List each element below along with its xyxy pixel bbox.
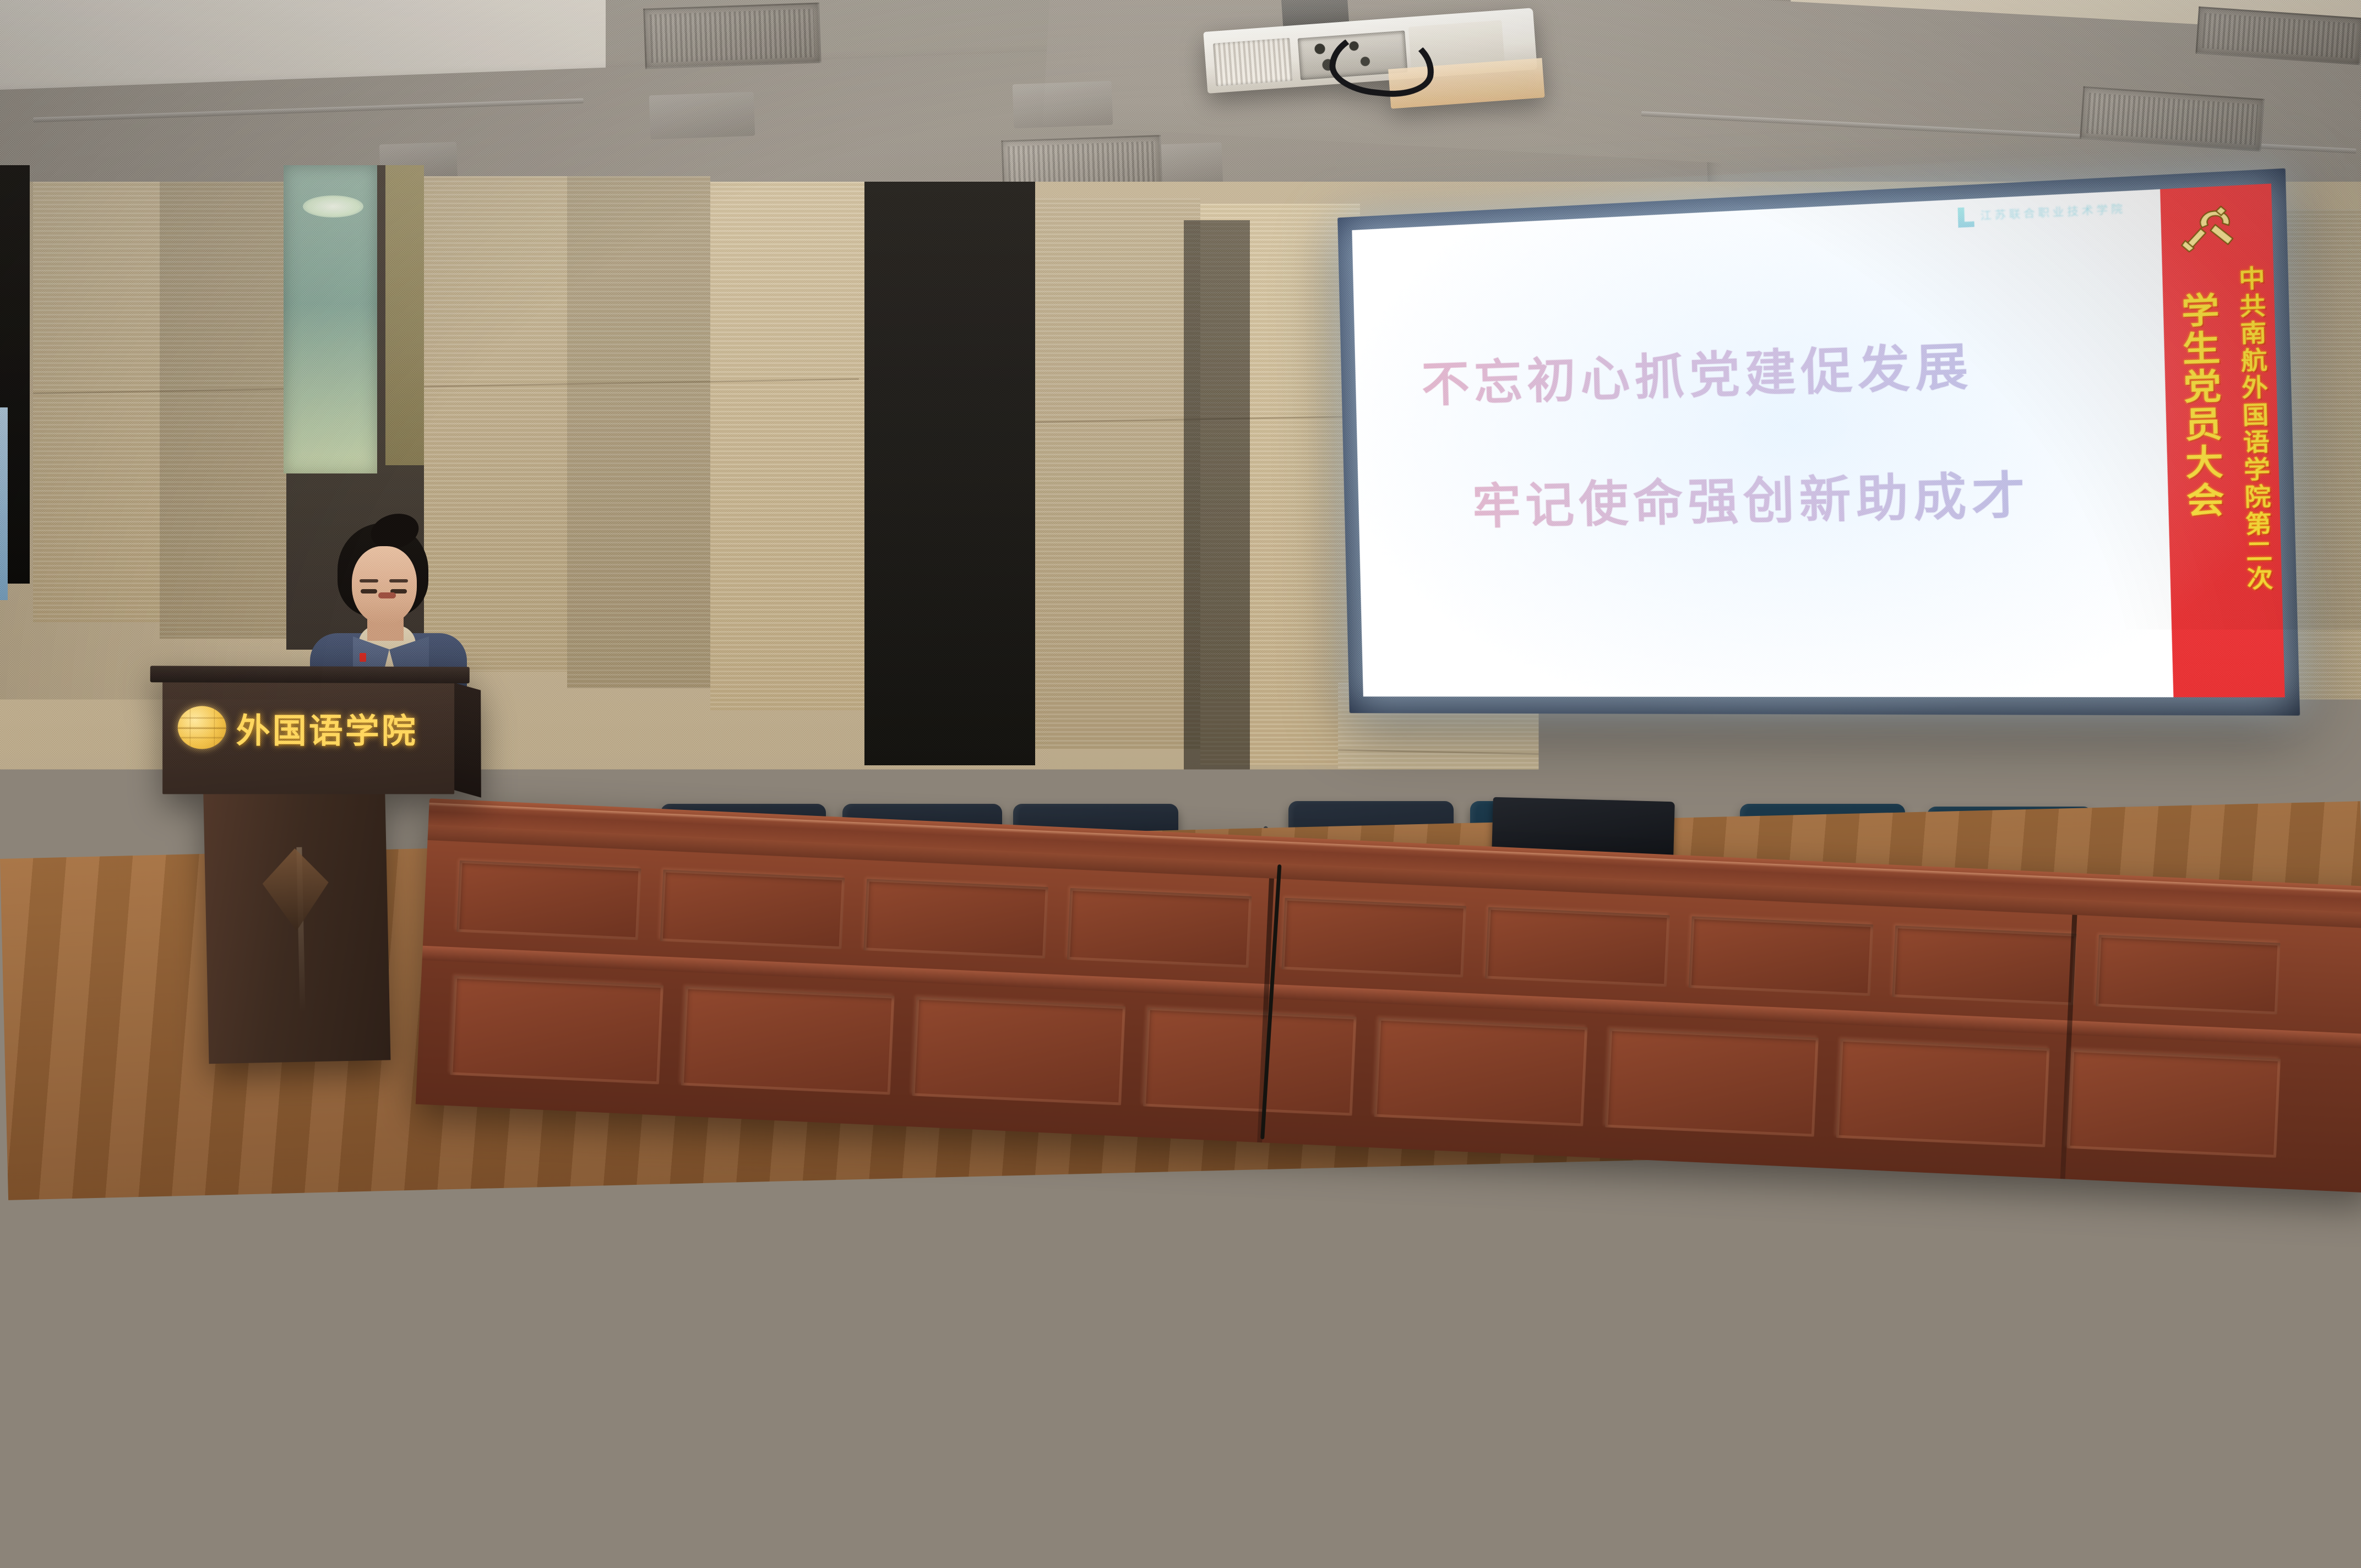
seat-cover-front-center[interactable] [824, 1449, 1115, 1568]
podium-top-edge [150, 666, 470, 683]
seat-label-row2-seat8: 二排8座 [182, 1233, 494, 1321]
screen-surface: 江苏联合职业技术学院 不忘初心抓党建促发展 牢记使命强创新助成才 中共南航外国语… [1352, 183, 2284, 697]
banner-event-line: 学生党员大会 [2169, 291, 2230, 520]
seat-cover-mid-2[interactable] [932, 1218, 1204, 1474]
globe-logo-icon [178, 706, 226, 749]
seat-cover-front-right[interactable] [1629, 1473, 1972, 1568]
projection-screen[interactable]: 江苏联合职业技术学院 不忘初心抓党建促发展 牢记使命强创新助成才 中共南航外国语… [1337, 168, 2300, 716]
auditorium-scene: 江苏联合职业技术学院 不忘初心抓党建促发展 牢记使命强创新助成才 中共南航外国语… [0, 0, 2361, 1568]
slide-headline-2: 牢记使命强创新助成才 [1472, 452, 2130, 538]
paper-cup-3 [1955, 1107, 2009, 1195]
wall-stone-panel-2 [160, 182, 286, 639]
glass-niche-secondary [385, 165, 424, 465]
seat-cover-row2-seat8[interactable]: 二排8座 [173, 1107, 498, 1387]
wall-black-column-center [864, 182, 1035, 765]
ceiling-recess-2 [649, 92, 755, 140]
attendee-head-9 [2081, 986, 2302, 1222]
podium-sign-text: 外国语学院 [236, 703, 418, 753]
document-on-table-1 [206, 973, 279, 1071]
audience-area: 二排8座 排7座 二排6座 [0, 892, 2361, 1568]
wall-monitor-edge [0, 407, 8, 600]
ceiling-recess-3 [1013, 81, 1113, 128]
podium-nameplate: 外国语学院 [178, 703, 418, 753]
speaker-eyebrow-left [360, 579, 378, 582]
niche-ceiling-light [303, 195, 363, 217]
banner-organization-line: 中共南航外国语学院第二次 [2230, 265, 2277, 593]
wall-stone-panel-5 [710, 182, 864, 710]
attendee-shoulders-12 [308, 1470, 617, 1568]
attendee-head-11 [595, 1266, 826, 1520]
speaker-eyebrow-right [389, 579, 408, 582]
cpc-hammer-sickle-emblem-icon [2177, 201, 2241, 254]
seat-cover-right-1[interactable] [1890, 1229, 2141, 1501]
speaker-face [352, 546, 417, 624]
slide-headline-1: 不忘初心抓党建促发展 [1421, 320, 2126, 416]
speaker-party-badge [360, 653, 366, 662]
paper-cup-1 [1217, 1184, 1267, 1250]
speaker-eye-left [361, 589, 377, 594]
wall-black-column-center2 [1184, 220, 1250, 771]
projector-vent-grille [1213, 38, 1293, 86]
slide-watermark: 江苏联合职业技术学院 [1958, 199, 2126, 227]
paper-cup-2 [1542, 1093, 1589, 1126]
wall-stone-panel-4 [567, 176, 710, 688]
slide-content-area: 江苏联合职业技术学院 不忘初心抓党建促发展 牢记使命强创新助成才 [1352, 189, 2173, 698]
attendee-head-6 [903, 997, 1085, 1184]
congress-banner: 中共南航外国语学院第二次 学生党员大会 [2160, 183, 2285, 697]
attendee-head-8 [1476, 1107, 1668, 1310]
attendee-shoulders-3 [347, 1019, 584, 1140]
wall-stone-panel-1 [33, 182, 160, 622]
watermark-text: 江苏联合职业技术学院 [1980, 203, 2126, 223]
speaker-mouth [378, 592, 396, 598]
wall-stone-panel-6 [1035, 198, 1200, 749]
ceiling-air-vent-2 [643, 2, 822, 69]
watermark-logo-icon [1958, 207, 1974, 228]
